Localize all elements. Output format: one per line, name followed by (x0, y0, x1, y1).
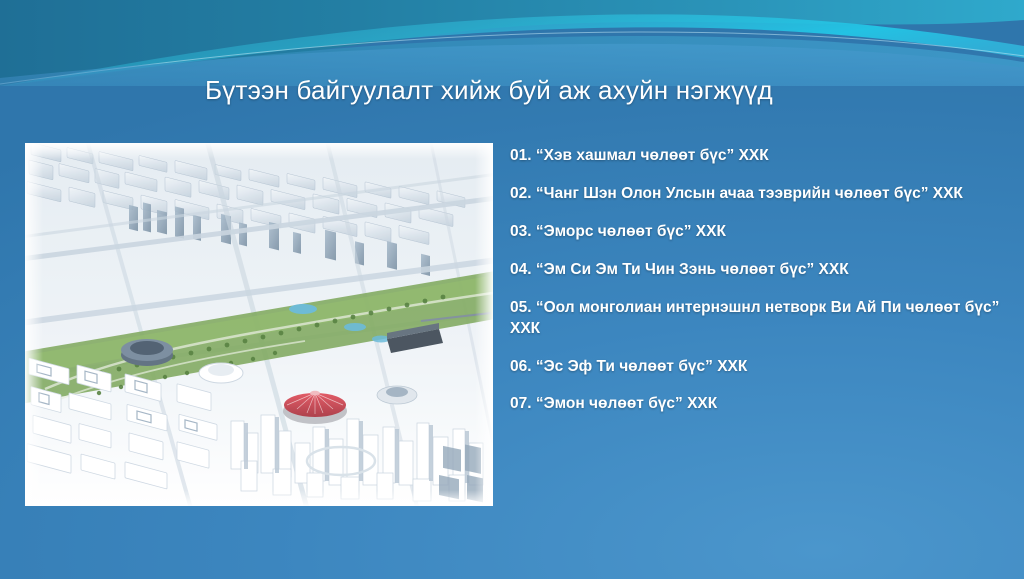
list-item-number: 03. (510, 223, 532, 240)
wave-svg (0, 0, 1024, 86)
list-item: 02. “Чанг Шэн Олон Улсын ачаа тээврийн ч… (510, 184, 1002, 205)
list-item: 03. “Эморс чөлөөт бүс” ХХК (510, 222, 1002, 243)
list-item-number: 04. (510, 261, 532, 278)
list-item-number: 05. (510, 299, 532, 316)
list-item-label: “Эмон чөлөөт бүс” ХХК (536, 395, 717, 412)
list-item-number: 02. (510, 185, 532, 202)
list-item-label: “Оол монголиан интернэшнл нетворк Ви Ай … (510, 299, 999, 337)
list-item: 01. “Хэв хашмал чөлөөт бүс” ХХК (510, 146, 1002, 167)
list-item-label: “Эм Си Эм Ти Чин Зэнь чөлөөт бүс” ХХК (536, 261, 849, 278)
list-item-number: 06. (510, 358, 532, 375)
city-masterplan-illustration (25, 143, 493, 506)
list-item-label: “Хэв хашмал чөлөөт бүс” ХХК (536, 147, 769, 164)
render-inner (25, 143, 493, 506)
list-item-label: “Чанг Шэн Олон Улсын ачаа тээврийн чөлөө… (536, 185, 963, 202)
list-item: 04. “Эм Си Эм Ти Чин Зэнь чөлөөт бүс” ХХ… (510, 260, 1002, 281)
list-item: 05. “Оол монголиан интернэшнл нетворк Ви… (510, 298, 1002, 340)
company-list: 01. “Хэв хашмал чөлөөт бүс” ХХК 02. “Чан… (510, 146, 1002, 415)
city-render-image (25, 143, 493, 506)
list-item-number: 07. (510, 395, 532, 412)
page-title: Бүтээн байгуулалт хийж буй аж ахуйн нэгж… (205, 75, 905, 106)
list-item-label: “Эс Эф Ти чөлөөт бүс” ХХК (536, 358, 747, 375)
header-wave-decoration (0, 0, 1024, 86)
list-item-number: 01. (510, 147, 532, 164)
presentation-slide: Бүтээн байгуулалт хийж буй аж ахуйн нэгж… (0, 0, 1024, 579)
list-item-label: “Эморс чөлөөт бүс” ХХК (536, 223, 726, 240)
list-item: 07. “Эмон чөлөөт бүс” ХХК (510, 394, 1002, 415)
list-item: 06. “Эс Эф Ти чөлөөт бүс” ХХК (510, 357, 1002, 378)
